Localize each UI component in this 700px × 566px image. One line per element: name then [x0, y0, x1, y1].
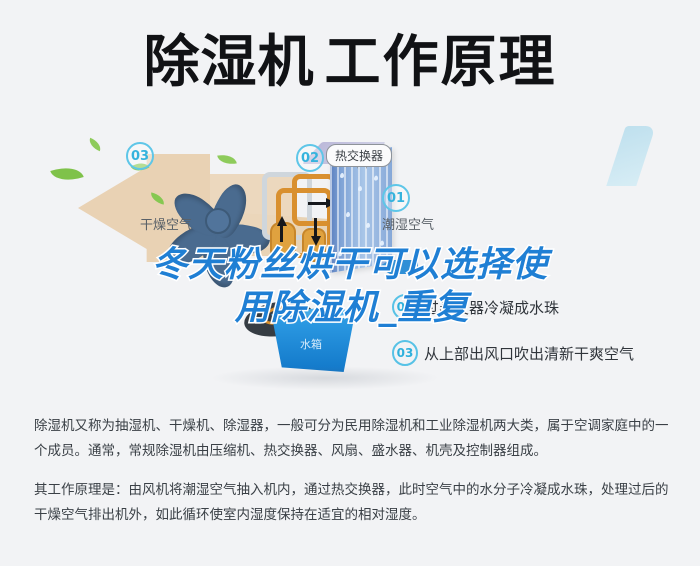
- page-title: 除湿机工作原理: [0, 18, 700, 108]
- dehumidifier-diagram: 水箱 03 02 01 热交换器 干燥空气 潮湿空气 02 过蒸发器冷凝成水珠 …: [0, 118, 700, 396]
- step-text: 从上部出风口吹出清新干爽空气: [424, 343, 634, 364]
- page-root: 除湿机工作原理: [0, 0, 700, 566]
- badge-02: 02: [296, 144, 324, 172]
- title-part-2: 工作原理: [325, 30, 557, 95]
- dry-air-label: 干燥空气: [140, 214, 192, 233]
- water-tank-label: 水箱: [300, 336, 322, 352]
- body-paragraph-1: 除湿机又称为抽湿机、干燥机、除湿器，一般可分为民用除湿机和工业除湿机两大类，属于…: [34, 414, 674, 464]
- article-body: 除湿机又称为抽湿机、干燥机、除湿器，一般可分为民用除湿机和工业除湿机两大类，属于…: [34, 414, 674, 542]
- step-item: 02 过蒸发器冷凝成水珠: [392, 294, 692, 320]
- fan-hub: [205, 208, 231, 234]
- body-paragraph-2: 其工作原理是：由风机将潮湿空气抽入机内，通过热交换器，此时空气中的水分子冷凝成水…: [34, 478, 674, 528]
- step-number: 02: [392, 294, 418, 320]
- step-text: 过蒸发器冷凝成水珠: [424, 297, 559, 318]
- title-part-1: 除湿机: [144, 30, 315, 95]
- step-number: 03: [392, 340, 418, 366]
- step-list: 02 过蒸发器冷凝成水珠 03 从上部出风口吹出清新干爽空气: [392, 294, 692, 386]
- humid-air-label: 潮湿空气: [382, 214, 434, 233]
- heat-exchanger-callout: 热交换器: [326, 144, 392, 167]
- leaf-icon: [87, 138, 103, 152]
- badge-03: 03: [126, 142, 154, 170]
- step-item: 03 从上部出风口吹出清新干爽空气: [392, 340, 692, 366]
- badge-01: 01: [382, 184, 410, 212]
- leaf-icon: [50, 162, 83, 186]
